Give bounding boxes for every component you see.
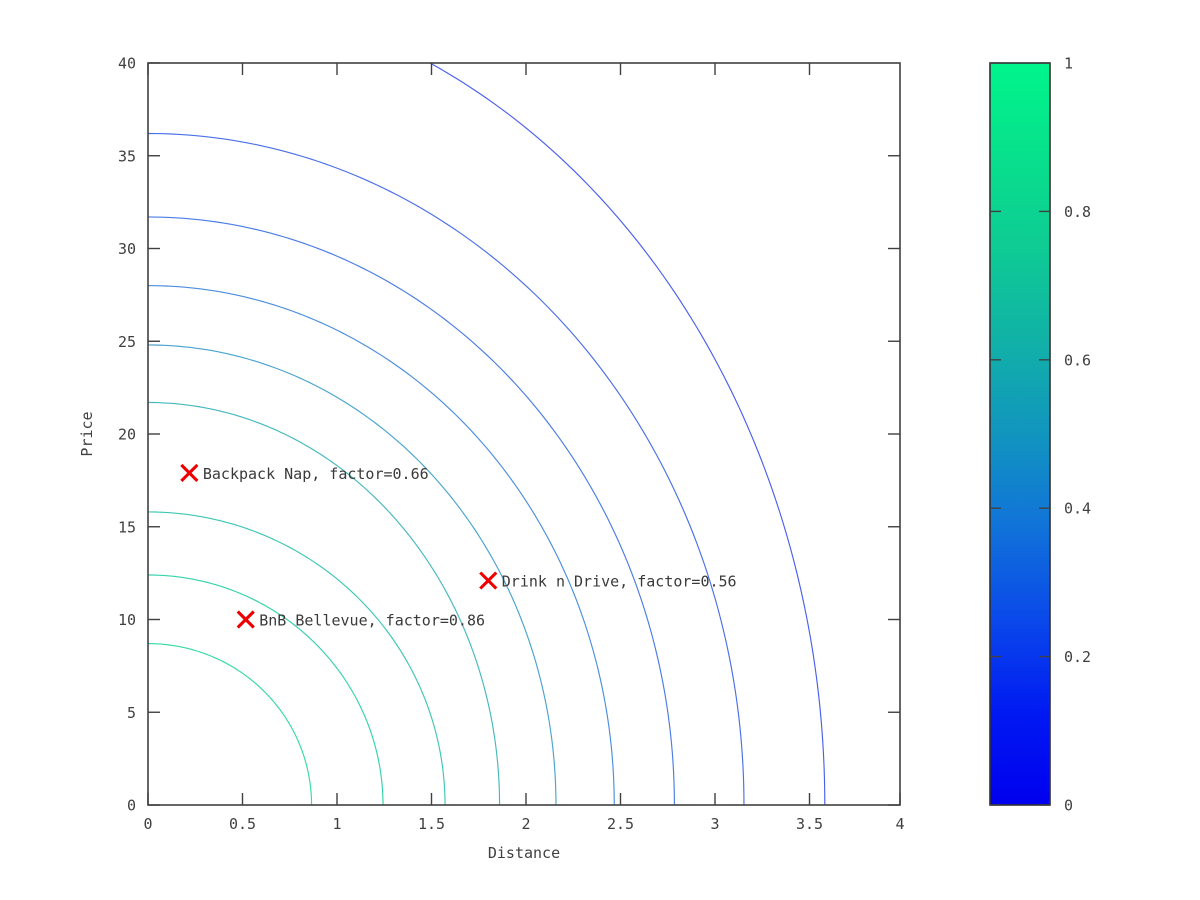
x-tick-label-1: 1 xyxy=(332,815,341,833)
annotation-marker-bnb-bellevue[interactable] xyxy=(238,612,254,628)
x-tick-label-2: 2 xyxy=(521,815,530,833)
x-axis-tick-labels: 0 0.5 1 1.5 2 2.5 3 3.5 4 xyxy=(143,815,904,833)
x-axis-title: Distance xyxy=(488,844,560,862)
annotation-label-drink-n-drive: Drink n Drive, factor=0.56 xyxy=(502,573,737,591)
x-tick-label-4: 4 xyxy=(895,815,904,833)
annotation-marker-backpack-nap[interactable] xyxy=(181,465,197,481)
y-axis-title: Price xyxy=(78,411,96,456)
x-tick-label-1-5: 1.5 xyxy=(418,815,445,833)
x-tick-label-0-5: 0.5 xyxy=(229,815,256,833)
contour-line-070 xyxy=(148,512,445,805)
contour-line-group xyxy=(148,0,825,805)
colorbar-tick-label-0: 0 xyxy=(1064,797,1073,815)
y-tick-label-20: 20 xyxy=(118,426,136,444)
x-tick-label-3-5: 3.5 xyxy=(796,815,823,833)
colorbar-tick-label-1: 1 xyxy=(1064,55,1073,73)
y-axis-ticks xyxy=(148,63,900,805)
x-tick-label-0: 0 xyxy=(143,815,152,833)
colorbar-tick-label-0-4: 0.4 xyxy=(1064,500,1091,518)
y-tick-label-5: 5 xyxy=(127,704,136,722)
colorbar-tick-label-0-6: 0.6 xyxy=(1064,351,1091,369)
y-tick-label-35: 35 xyxy=(118,147,136,165)
plot-canvas: 0 0.5 1 1.5 2 2.5 3 3.5 4 xyxy=(0,0,1200,900)
contour-line-010 xyxy=(148,0,825,805)
x-tick-label-2-5: 2.5 xyxy=(607,815,634,833)
annotation-marker-drink-n-drive[interactable] xyxy=(480,573,496,589)
y-axis-tick-labels: 0 5 10 15 20 25 30 35 40 xyxy=(118,55,136,815)
annotation-label-bnb-bellevue: BnB Bellevue, factor=0.86 xyxy=(259,612,485,630)
x-axis-ticks xyxy=(148,63,900,805)
contour-line-080 xyxy=(148,575,383,805)
annotation-label-backpack-nap: Backpack Nap, factor=0.66 xyxy=(203,465,429,483)
colorbar: 0 0.2 0.4 0.6 0.8 1 xyxy=(990,55,1091,815)
colorbar-tick-label-0-2: 0.2 xyxy=(1064,648,1091,666)
y-tick-label-30: 30 xyxy=(118,240,136,258)
contour-line-090 xyxy=(148,644,312,805)
colorbar-tick-labels: 0 0.2 0.4 0.6 0.8 1 xyxy=(1064,55,1091,815)
y-tick-label-40: 40 xyxy=(118,55,136,73)
contour-plot-figure: 0 0.5 1 1.5 2 2.5 3 3.5 4 xyxy=(0,0,1200,900)
plot-frame xyxy=(148,63,900,805)
colorbar-tick-label-0-8: 0.8 xyxy=(1064,203,1091,221)
y-tick-label-10: 10 xyxy=(118,611,136,629)
colorbar-gradient xyxy=(990,63,1050,805)
x-tick-label-3: 3 xyxy=(710,815,719,833)
contour-line-030 xyxy=(148,217,674,805)
y-tick-label-25: 25 xyxy=(118,333,136,351)
y-tick-label-0: 0 xyxy=(127,797,136,815)
contour-line-060 xyxy=(148,402,500,805)
y-tick-label-15: 15 xyxy=(118,518,136,536)
contour-line-040 xyxy=(148,286,614,805)
